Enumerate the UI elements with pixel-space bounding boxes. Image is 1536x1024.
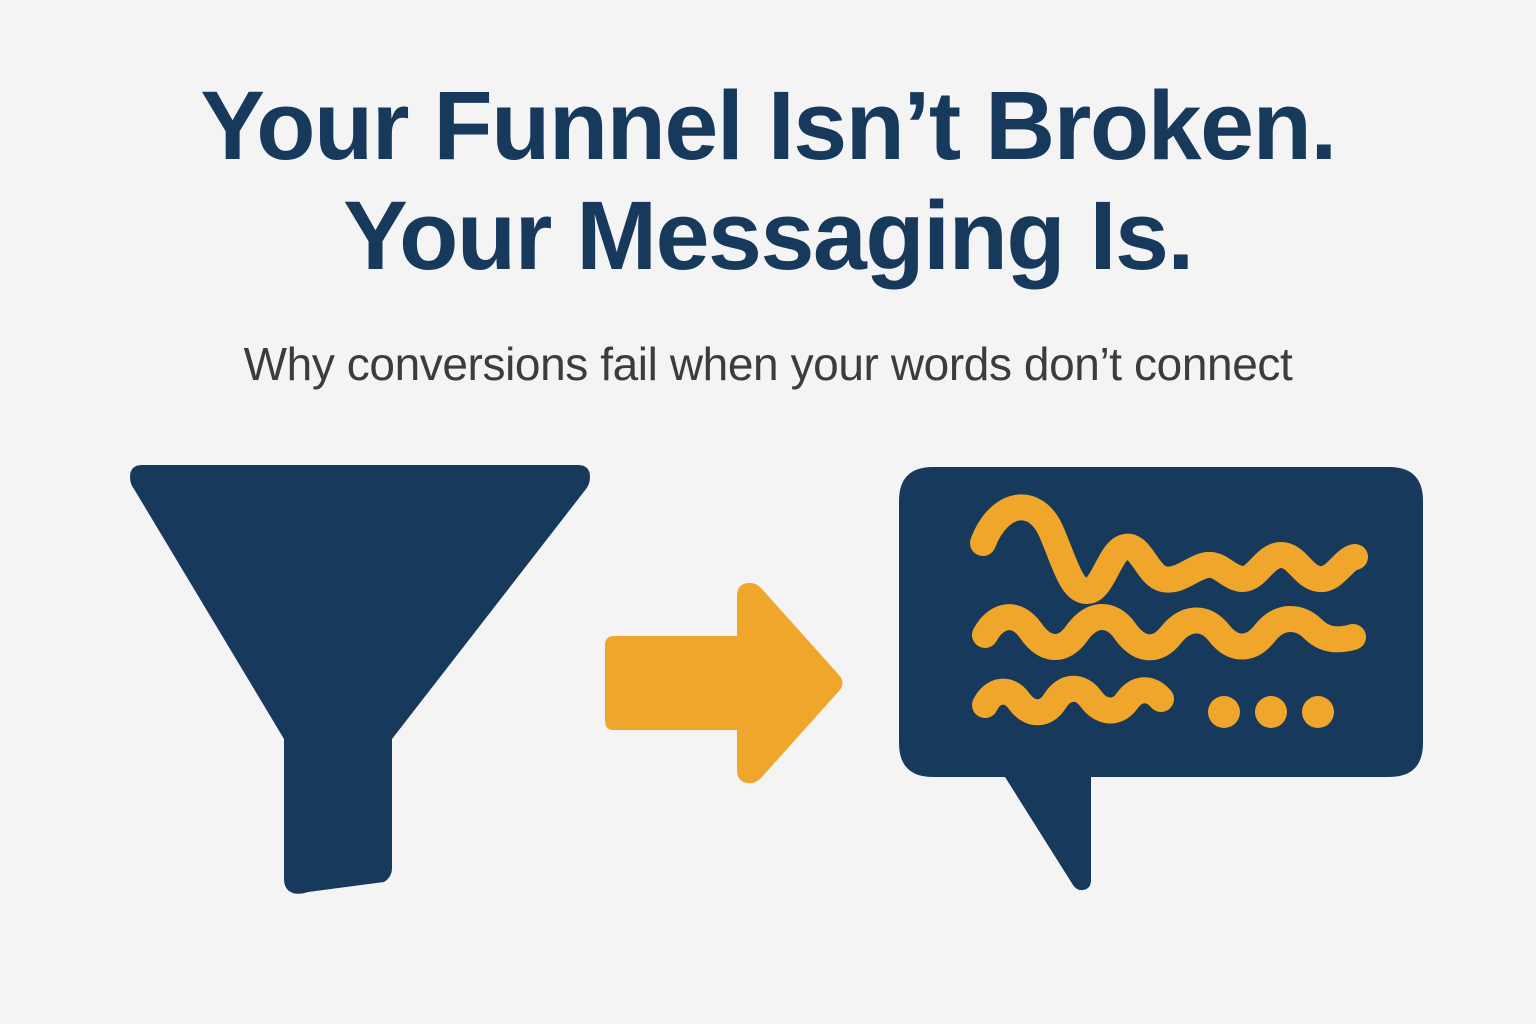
page-title-line-1: Your Funnel Isn’t Broken. — [0, 72, 1536, 180]
page-subtitle: Why conversions fail when your words don… — [0, 336, 1536, 392]
ellipsis-dot-3 — [1302, 696, 1334, 728]
ellipsis-dot-1 — [1208, 696, 1240, 728]
icon-row — [0, 455, 1536, 915]
arrow-graphic — [585, 580, 855, 790]
speech-bubble-icon — [895, 455, 1435, 905]
speech-bubble-graphic — [895, 455, 1435, 905]
ellipsis-dot-2 — [1255, 696, 1287, 728]
funnel-icon — [110, 455, 610, 905]
arrow-right-icon — [585, 580, 855, 790]
poster-canvas: Your Funnel Isn’t Broken. Your Messaging… — [0, 0, 1536, 1024]
page-title-line-2: Your Messaging Is. — [0, 182, 1536, 290]
headline-block: Your Funnel Isn’t Broken. Your Messaging… — [0, 72, 1536, 392]
funnel-graphic — [110, 455, 610, 905]
